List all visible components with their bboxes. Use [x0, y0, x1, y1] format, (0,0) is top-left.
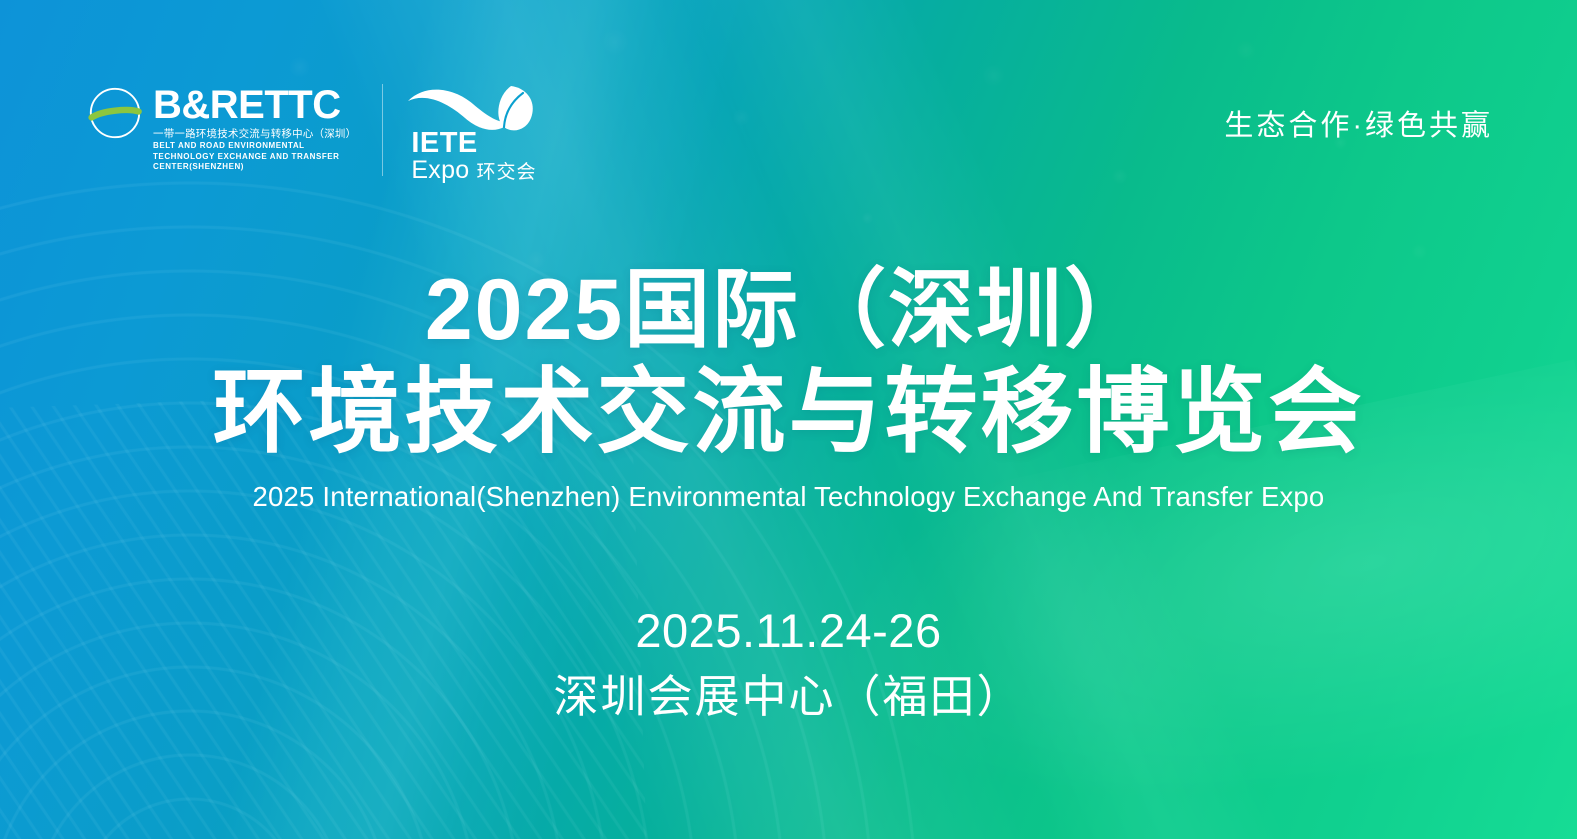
- event-slogan: 生态合作·绿色共赢: [1224, 106, 1493, 146]
- banner-title-block: 2025国际（深圳） 环境技术交流与转移博览会 2025 Internation…: [0, 262, 1577, 516]
- iete-expo-label: Expo: [411, 158, 469, 183]
- brettc-english-line-1: BELT AND ROAD ENVIRONMENTAL: [153, 141, 356, 152]
- brettc-wordmark: B&RETTC: [153, 85, 356, 125]
- brettc-chinese-name: 一带一路环境技术交流与转移中心（深圳）: [153, 127, 356, 141]
- event-venue: 深圳会展中心（福田）: [0, 666, 1577, 728]
- title-line-2: 环境技术交流与转移博览会: [0, 360, 1577, 464]
- brettc-english-line-3: CENTER(SHENZHEN): [153, 162, 356, 173]
- iete-expo-logo[interactable]: IETE Expo 环交会: [383, 84, 551, 184]
- logo-group: B&RETTC 一带一路环境技术交流与转移中心（深圳） BELT AND ROA…: [88, 84, 551, 184]
- iete-subline: Expo 环交会: [411, 158, 536, 183]
- brettc-english-line-2: TECHNOLOGY EXCHANGE AND TRANSFER: [153, 152, 356, 163]
- brettc-text-block: B&RETTC 一带一路环境技术交流与转移中心（深圳） BELT AND ROA…: [153, 84, 356, 173]
- iete-wordmark: IETE: [411, 129, 477, 158]
- title-subtitle-english: 2025 International(Shenzhen) Environment…: [0, 478, 1577, 516]
- brettc-logo[interactable]: B&RETTC 一带一路环境技术交流与转移中心（深圳） BELT AND ROA…: [88, 84, 383, 176]
- event-banner: B&RETTC 一带一路环境技术交流与转移中心（深圳） BELT AND ROA…: [0, 0, 1577, 839]
- banner-header: B&RETTC 一带一路环境技术交流与转移中心（深圳） BELT AND ROA…: [88, 84, 1493, 184]
- title-line-1: 2025国际（深圳）: [0, 262, 1577, 358]
- event-date: 2025.11.24-26: [0, 600, 1577, 662]
- iete-chinese-short: 环交会: [477, 163, 537, 182]
- globe-icon: [88, 86, 142, 145]
- event-meta-block: 2025.11.24-26 深圳会展中心（福田）: [0, 600, 1577, 728]
